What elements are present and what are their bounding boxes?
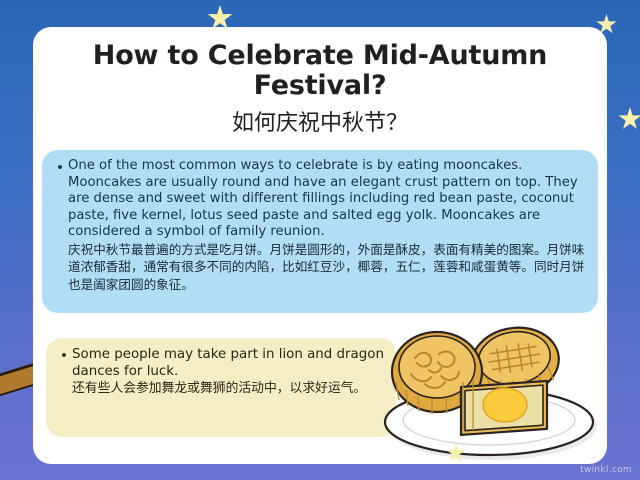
- slide-canvas: How to Celebrate Mid-Autumn Festival? 如何…: [0, 0, 640, 480]
- bullet-marker: •: [56, 346, 72, 429]
- bullet-box-mooncakes: • One of the most common ways to celebra…: [42, 150, 598, 313]
- bullet-marker: •: [52, 158, 68, 305]
- bullet-chinese-text: 还有些人会参加舞龙或舞狮的活动中，以求好运气。: [72, 380, 384, 398]
- bullet-body: One of the most common ways to celebrate…: [68, 158, 586, 305]
- bullet-english-text: Some people may take part in lion and dr…: [72, 346, 384, 380]
- page-title: How to Celebrate Mid-Autumn Festival?: [59, 41, 581, 101]
- bullet-chinese-text: 庆祝中秋节最普遍的方式是吃月饼。月饼是圆形的，外面是酥皮，表面有精美的图案。月饼…: [68, 241, 586, 294]
- content-card: How to Celebrate Mid-Autumn Festival? 如何…: [33, 27, 607, 464]
- bullet-body: Some people may take part in lion and dr…: [72, 346, 384, 429]
- mooncakes-on-plate-illustration: [375, 318, 605, 468]
- star-right-mid-icon: [618, 107, 640, 131]
- watermark-label: twinkl.com: [580, 465, 632, 475]
- bullet-english-text: One of the most common ways to celebrate…: [68, 158, 586, 241]
- bullet-box-lion-dragon-dance: • Some people may take part in lion and …: [46, 338, 396, 437]
- page-subtitle-chinese: 如何庆祝中秋节？: [33, 105, 607, 137]
